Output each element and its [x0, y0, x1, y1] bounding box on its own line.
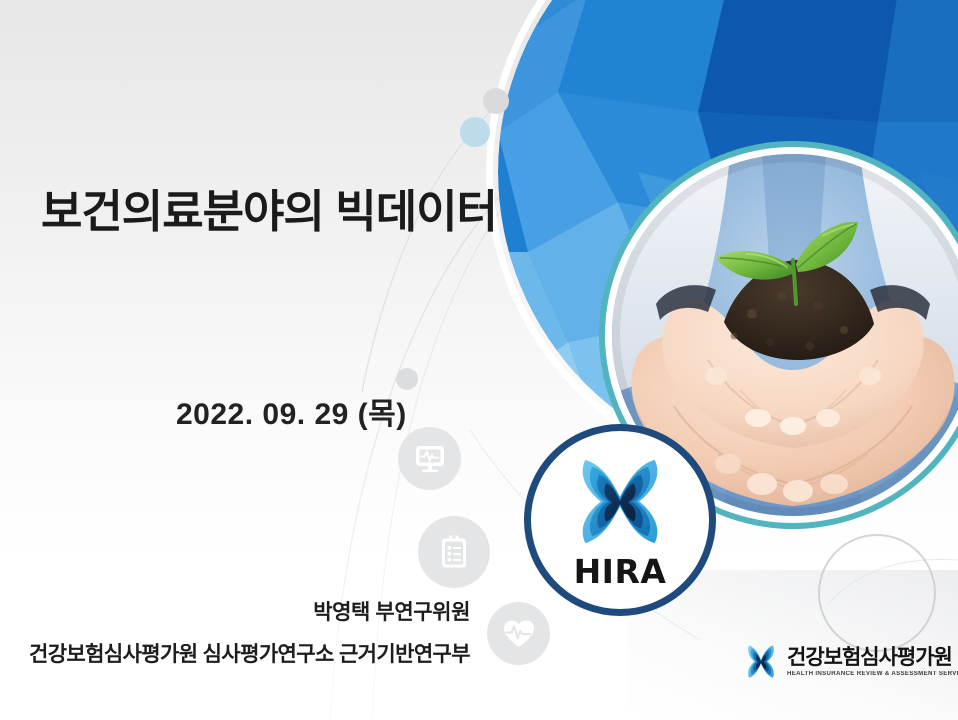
hira-chromosome-icon [744, 643, 778, 683]
clipboard-checklist-icon [418, 516, 490, 588]
grey-dot-small [396, 368, 418, 390]
hira-badge: HIRA [524, 424, 716, 616]
hira-wordmark: HIRA [574, 555, 667, 588]
slide-title: 보건의료분야의 빅데이터 [41, 187, 497, 237]
slide-date: 2022. 09. 29 (목) [176, 389, 407, 433]
monitor-ecg-icon [398, 427, 461, 490]
hira-chromosome-icon [568, 453, 672, 557]
corporate-logo-text: 건강보험심사평가원 HEALTH INSURANCE REVIEW & ASSE… [787, 647, 958, 678]
heart-pulse-icon [487, 602, 550, 665]
presenter-affiliation: 건강보험심사평가원 심사평가연구소 근거기반연구부 [0, 638, 470, 668]
corporate-name-english: HEALTH INSURANCE REVIEW & ASSESSMENT SER… [787, 670, 958, 679]
presenter-name: 박영택 부연구위원 [0, 596, 470, 626]
grey-dot [483, 88, 509, 114]
presentation-slide: HIRA 보건의료분야의 빅데이터 2022. 09. 29 (목) 박영택 부… [0, 0, 958, 720]
blue-dot [460, 117, 490, 147]
ghost-ring-outline [818, 534, 936, 652]
corporate-logo: 건강보험심사평가원 HEALTH INSURANCE REVIEW & ASSE… [744, 643, 958, 683]
corporate-name-korean: 건강보험심사평가원 [787, 647, 958, 669]
